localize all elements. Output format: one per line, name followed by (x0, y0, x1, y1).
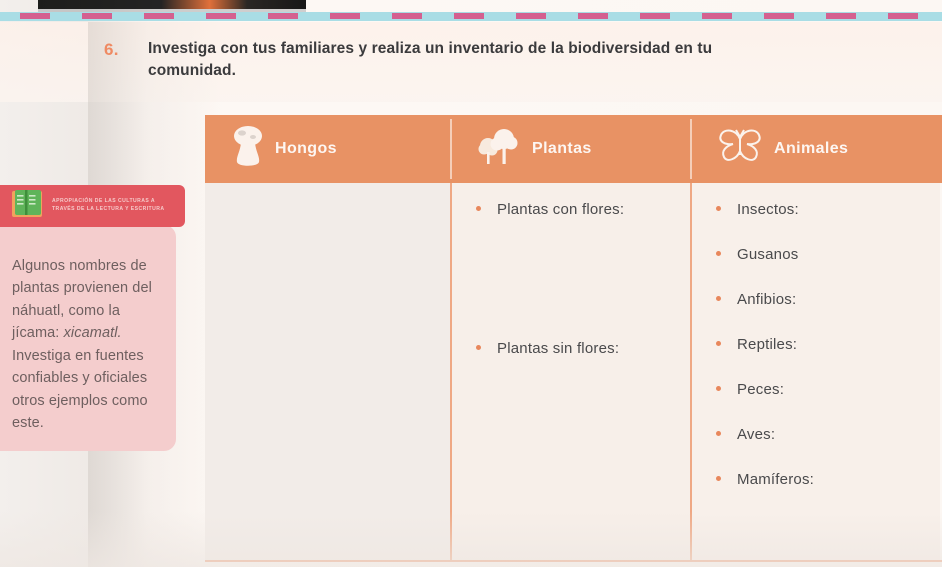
answer-space[interactable] (692, 398, 940, 426)
list-item-label: Insectos: (737, 201, 799, 218)
table-header-row: Hongos Plantas (205, 115, 942, 183)
bullet-icon (716, 206, 721, 211)
list-item: Plantas con flores: (452, 201, 690, 218)
answer-space[interactable] (692, 443, 940, 471)
side-note-text-italic: xicamatl. (64, 325, 122, 341)
bullet-icon (716, 386, 721, 391)
exercise-number: 6. (104, 40, 119, 60)
side-note-tag-label: APROPIACIÓN DE LAS CULTURAS A TRAVÉS DE … (52, 198, 179, 213)
list-item: Aves: (692, 426, 940, 443)
dashed-divider-rule (0, 12, 942, 21)
answer-space[interactable] (692, 308, 940, 336)
answer-space[interactable] (692, 263, 940, 291)
list-item: Plantas sin flores: (452, 340, 690, 357)
bullet-icon (476, 345, 481, 350)
side-note-tag: APROPIACIÓN DE LAS CULTURAS A TRAVÉS DE … (0, 185, 185, 227)
list-item: Insectos: (692, 201, 940, 218)
book-icon (10, 188, 44, 225)
bullet-icon (716, 251, 721, 256)
table-cell-plantas[interactable]: Plantas con flores: Plantas sin flores: (450, 183, 690, 560)
dash-segment (206, 13, 236, 19)
exercise-block: 6. Investiga con tus familiares y realiz… (104, 38, 804, 82)
dash-segment (20, 13, 50, 19)
side-note-box: Algunos nombres de plantas provienen del… (0, 225, 176, 451)
dash-segment (82, 13, 112, 19)
dash-segment (888, 13, 918, 19)
side-note-text: Algunos nombres de plantas provienen del… (12, 255, 162, 435)
dash-segment (330, 13, 360, 19)
dash-segment (764, 13, 794, 19)
list-item: Reptiles: (692, 336, 940, 353)
list-item-label: Mamíferos: (737, 471, 814, 488)
table-cell-animales[interactable]: Insectos: Gusanos Anfibios: Reptiles: Pe… (690, 183, 940, 560)
table-body-row: Plantas con flores: Plantas sin flores: … (205, 183, 942, 562)
table-header-hongos-label: Hongos (275, 140, 337, 158)
dash-segment (826, 13, 856, 19)
answer-space[interactable] (452, 218, 690, 340)
list-item-label: Anfibios: (737, 291, 796, 308)
answer-space[interactable] (692, 353, 940, 381)
list-item-label: Reptiles: (737, 336, 797, 353)
bullet-icon (716, 296, 721, 301)
bullet-icon (716, 341, 721, 346)
dash-segment (392, 13, 422, 19)
bullet-icon (716, 476, 721, 481)
list-item-label: Gusanos (737, 246, 798, 263)
dash-segment (640, 13, 670, 19)
list-item: Gusanos (692, 246, 940, 263)
table-header-animales-label: Animales (774, 140, 848, 158)
dash-segment (702, 13, 732, 19)
table-cell-hongos[interactable] (205, 183, 450, 560)
exercise-instruction: Investiga con tus familiares y realiza u… (148, 38, 804, 82)
trees-icon (476, 124, 522, 175)
list-item: Peces: (692, 381, 940, 398)
dash-segment (268, 13, 298, 19)
dash-segment (144, 13, 174, 19)
list-item-label: Plantas con flores: (497, 201, 624, 218)
list-item: Anfibios: (692, 291, 940, 308)
table-header-hongos: Hongos (205, 115, 450, 183)
side-note-text-after: Investiga en fuentes confiables y oficia… (12, 348, 148, 431)
list-item-label: Aves: (737, 426, 775, 443)
biodiversity-table: Hongos Plantas (205, 115, 942, 560)
answer-space[interactable] (692, 218, 940, 246)
list-item: Mamíferos: (692, 471, 940, 488)
mushroom-icon (231, 124, 265, 175)
list-item-label: Peces: (737, 381, 784, 398)
page-top-black-bar (38, 0, 306, 9)
dash-segment (516, 13, 546, 19)
table-header-animales: Animales (690, 115, 942, 183)
dash-segment (578, 13, 608, 19)
butterfly-icon (716, 125, 764, 174)
bullet-icon (476, 206, 481, 211)
table-header-plantas: Plantas (450, 115, 690, 183)
table-header-plantas-label: Plantas (532, 140, 592, 158)
bullet-icon (716, 431, 721, 436)
dash-segment (454, 13, 484, 19)
list-item-label: Plantas sin flores: (497, 340, 619, 357)
